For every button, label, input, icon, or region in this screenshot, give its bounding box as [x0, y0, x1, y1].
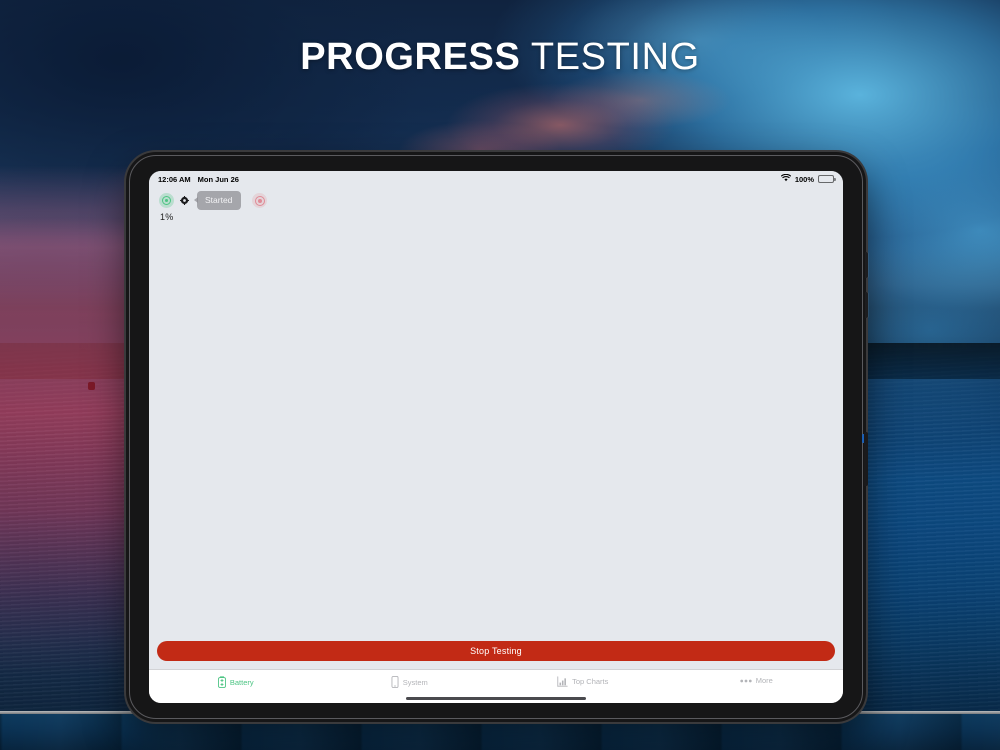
battery-tab-icon — [218, 676, 226, 688]
background-buoy — [88, 382, 95, 390]
volume-up-button[interactable] — [865, 252, 868, 278]
green-record-circle-icon[interactable] — [159, 193, 174, 208]
status-bar-date: Mon Jun 26 — [198, 175, 239, 184]
tablet-device: 12:06 AM Mon Jun 26 100% — [126, 152, 866, 722]
page-title: PROGRESS TESTING — [0, 36, 1000, 79]
wifi-icon — [781, 174, 791, 184]
bottom-tab-bar: Battery System — [149, 669, 843, 703]
bar-chart-tab-icon — [557, 676, 568, 687]
tab-more[interactable]: More — [670, 676, 844, 685]
primary-action-container: Stop Testing — [149, 641, 843, 661]
battery-percent-label: 100% — [795, 175, 814, 184]
gear-icon[interactable] — [180, 196, 189, 205]
ios-status-bar: 12:06 AM Mon Jun 26 100% — [149, 171, 843, 187]
volume-down-button[interactable] — [865, 292, 868, 318]
tab-battery[interactable]: Battery — [149, 676, 323, 688]
testing-toolbar: Started — [149, 187, 843, 209]
tab-more-label: More — [756, 676, 773, 685]
status-bar-time: 12:06 AM — [158, 175, 191, 184]
progress-percent-label: 1% — [149, 209, 843, 222]
tab-battery-label: Battery — [230, 678, 254, 687]
phone-tab-icon — [391, 676, 399, 688]
page-title-light: TESTING — [531, 36, 700, 78]
record-circle-icon[interactable] — [252, 193, 267, 208]
tab-top-charts[interactable]: Top Charts — [496, 676, 670, 687]
page-title-bold: PROGRESS — [300, 36, 520, 78]
stop-testing-button[interactable]: Stop Testing — [157, 641, 835, 661]
tab-system-label: System — [403, 678, 428, 687]
pencil-magnet-strip — [864, 432, 868, 486]
app-content-area: Started 1% Stop Testing — [149, 187, 843, 669]
status-badge: Started — [197, 191, 241, 210]
tab-system[interactable]: System — [323, 676, 497, 688]
tablet-screen: 12:06 AM Mon Jun 26 100% — [149, 171, 843, 703]
home-indicator[interactable] — [406, 697, 586, 700]
screenshot-stage: PROGRESS TESTING 12:06 AM Mon Jun 26 — [0, 0, 1000, 750]
ellipsis-tab-icon — [740, 679, 752, 683]
tab-top-charts-label: Top Charts — [572, 677, 608, 686]
battery-icon — [818, 175, 834, 183]
